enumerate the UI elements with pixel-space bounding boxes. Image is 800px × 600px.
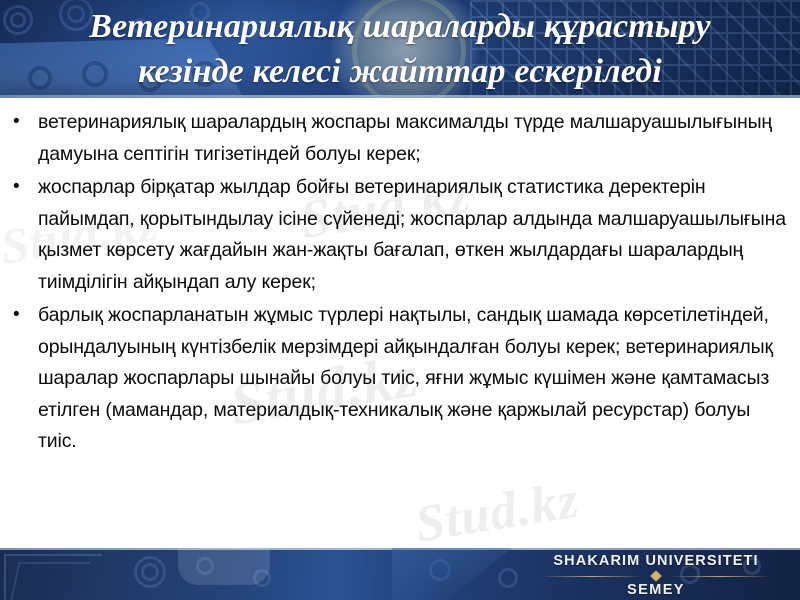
list-item: жоспарлар бірқатар жылдар бойғы ветерина… bbox=[10, 172, 786, 298]
brand-divider-right-line bbox=[668, 576, 772, 577]
page-title: Ветеринариялық шараларды құрастыру кезін… bbox=[0, 4, 800, 94]
footer-ornament-frame-inner bbox=[10, 562, 91, 600]
brand-name-primary: SHAKARIM UNIVERSITETI bbox=[526, 552, 786, 570]
university-brand-lockup: SHAKARIM UNIVERSITETI SEMEY bbox=[526, 552, 786, 599]
page-title-line-1: Ветеринариялық шараларды құрастыру bbox=[0, 4, 800, 49]
slide-footer-banner: SHAKARIM UNIVERSITETI SEMEY bbox=[0, 548, 800, 600]
brand-divider-left-line bbox=[540, 576, 644, 577]
footer-logo-watermark bbox=[178, 548, 270, 585]
bullet-list: ветеринариялық шаралардың жоспары максим… bbox=[0, 98, 800, 458]
brand-divider bbox=[526, 571, 786, 582]
presentation-slide: Ветеринариялық шараларды құрастыру кезін… bbox=[0, 0, 800, 600]
slide-content-area: Stud.kz Stud.kz Stud.kz Stud.kz Stud.kz … bbox=[0, 98, 800, 548]
watermark-stud-kz: Stud.kz bbox=[556, 540, 740, 548]
page-title-line-2: кезінде келесі жайттар ескеріледі bbox=[0, 49, 800, 94]
list-item: барлық жоспарланатын жұмыс түрлері нақты… bbox=[10, 300, 786, 458]
watermark-stud-kz: Stud.kz bbox=[411, 470, 583, 548]
brand-diamond-icon bbox=[650, 570, 661, 581]
list-item: ветеринариялық шаралардың жоспары максим… bbox=[10, 107, 786, 170]
brand-name-city: SEMEY bbox=[526, 582, 786, 599]
